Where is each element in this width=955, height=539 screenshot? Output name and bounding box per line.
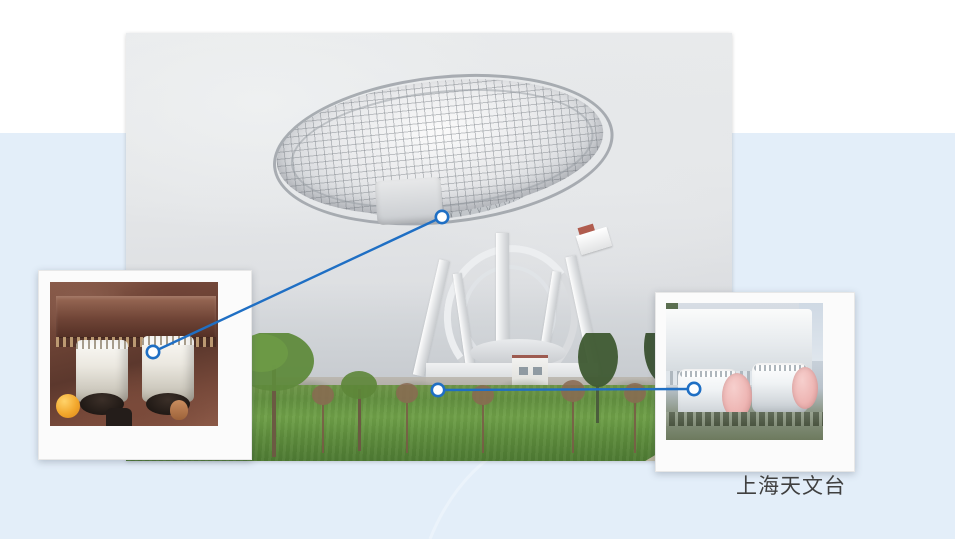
orange-hardhat <box>56 394 80 418</box>
inset-left-image <box>50 282 218 426</box>
bearing-assembly-after <box>655 292 855 472</box>
rusty-bearing-housing-b <box>142 336 194 402</box>
rusty-bearing-housing-a <box>76 340 128 402</box>
bearing-assembly-before <box>38 270 252 460</box>
clean-base-rail <box>666 412 823 426</box>
photo-caption: 上海天文台 <box>736 470 846 500</box>
rusty-steel-beam <box>56 296 216 338</box>
inset-right-image <box>666 303 823 440</box>
slide-canvas: 上海天文台 <box>0 0 955 539</box>
worker-silhouette <box>106 408 132 426</box>
worker-head <box>170 400 188 420</box>
pink-end-cap-b <box>792 367 818 409</box>
dish-apex-hub <box>375 177 444 225</box>
